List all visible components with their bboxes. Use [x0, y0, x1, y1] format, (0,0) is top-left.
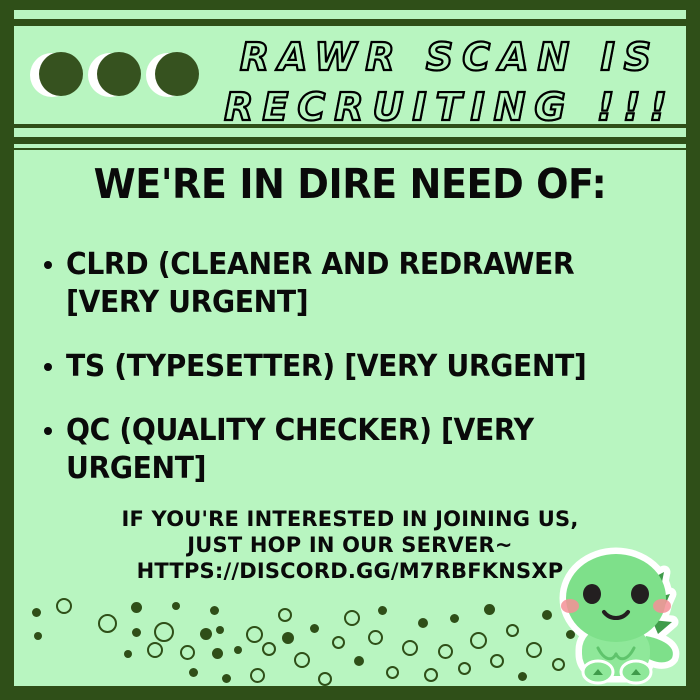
bullet-dot-icon	[44, 363, 52, 371]
footer-line-1: IF YOU'RE INTERESTED IN JOINING US,	[14, 506, 686, 532]
confetti-ring	[180, 645, 195, 660]
bullet-dot-icon	[44, 261, 52, 269]
bullet-dot-icon	[44, 427, 52, 435]
confetti-dot	[212, 648, 223, 659]
confetti-dot	[310, 624, 319, 633]
confetti-ring	[147, 642, 163, 658]
confetti-ring	[98, 614, 117, 633]
confetti-ring	[490, 654, 504, 668]
poster-title-line-1: RAWR SCAN IS	[214, 26, 686, 82]
confetti-dot	[354, 656, 364, 666]
confetti-ring	[506, 624, 519, 637]
confetti-ring	[56, 598, 72, 614]
confetti-dot	[518, 672, 527, 681]
confetti-dot	[200, 628, 212, 640]
list-item: CLRD (CLEANER AND REDRAWER [VERY URGENT]	[30, 246, 674, 322]
dino-eye-right	[631, 584, 649, 604]
dot-disc-icon	[39, 52, 83, 96]
confetti-dot	[210, 606, 219, 615]
dino-blush-right	[653, 599, 671, 613]
confetti-dot	[32, 608, 41, 617]
page-heading: WE'RE IN DIRE NEED OF:	[38, 160, 663, 208]
confetti-dot	[234, 646, 242, 654]
header-dot-group	[30, 52, 192, 98]
header-dot-1	[30, 52, 76, 98]
confetti-ring	[250, 668, 265, 683]
dot-disc-icon	[155, 52, 199, 96]
confetti-ring	[344, 610, 360, 626]
body-panel: WE'RE IN DIRE NEED OF: CLRD (CLEANER AND…	[14, 150, 686, 686]
role-label: QC (QUALITY CHECKER) [VERY URGENT]	[66, 412, 638, 488]
confetti-ring	[438, 644, 453, 659]
confetti-dot	[132, 628, 141, 637]
confetti-ring	[318, 672, 332, 686]
confetti-ring	[294, 652, 310, 668]
confetti-ring	[470, 632, 487, 649]
role-label: TS (TYPESETTER) [VERY URGENT]	[66, 348, 586, 386]
role-label: CLRD (CLEANER AND REDRAWER [VERY URGENT]	[66, 246, 638, 322]
poster-title-line-2: RECRUITING !!!	[214, 82, 686, 124]
confetti-ring	[246, 626, 263, 643]
confetti-dot	[378, 606, 387, 615]
confetti-dot	[172, 602, 180, 610]
confetti-dot	[450, 614, 459, 623]
confetti-dot	[124, 650, 132, 658]
confetti-ring	[154, 622, 174, 642]
role-list: CLRD (CLEANER AND REDRAWER [VERY URGENT]…	[30, 246, 674, 514]
confetti-ring	[262, 642, 276, 656]
header-dot-2	[88, 52, 134, 98]
list-item: QC (QUALITY CHECKER) [VERY URGENT]	[30, 412, 674, 488]
confetti-dot	[418, 618, 428, 628]
frame-rule-under-a	[14, 128, 686, 137]
confetti-dot	[484, 604, 495, 615]
confetti-dot	[34, 632, 42, 640]
header-dot-3	[146, 52, 192, 98]
dino-blush-left	[561, 599, 579, 613]
header-band: RAWR SCAN IS RECRUITING !!!	[14, 26, 686, 124]
dinosaur-sticker	[554, 536, 684, 686]
confetti-dot	[216, 626, 224, 634]
poster-title: RAWR SCAN IS RECRUITING !!!	[214, 26, 686, 124]
confetti-dot	[282, 632, 294, 644]
confetti-ring	[278, 608, 292, 622]
list-item: TS (TYPESETTER) [VERY URGENT]	[30, 348, 674, 386]
confetti-ring	[458, 662, 471, 675]
confetti-dot	[189, 668, 198, 677]
frame-rule-top	[14, 10, 686, 19]
frame-rule-under-b	[14, 144, 686, 148]
confetti-ring	[332, 636, 345, 649]
confetti-ring	[386, 666, 399, 679]
dino-eye-left	[583, 584, 601, 604]
recruitment-poster: RAWR SCAN IS RECRUITING !!! WE'RE IN DIR…	[0, 0, 700, 700]
confetti-dot	[542, 610, 552, 620]
confetti-dot	[222, 674, 231, 683]
confetti-ring	[402, 640, 418, 656]
confetti-ring	[424, 668, 438, 682]
confetti-dot	[131, 602, 142, 613]
dot-disc-icon	[97, 52, 141, 96]
confetti-ring	[526, 642, 542, 658]
confetti-ring	[368, 630, 383, 645]
